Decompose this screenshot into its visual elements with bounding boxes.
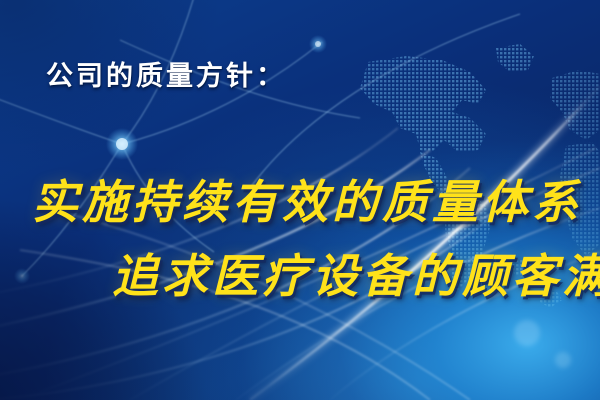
slogan-line-1: 实施持续有效的质量体系	[32, 166, 582, 232]
page-title: 公司的质量方针：	[46, 54, 286, 93]
slogan-line-2: 追求医疗设备的顾客满意	[112, 240, 600, 306]
quality-policy-banner: 公司的质量方针： 实施持续有效的质量体系 追求医疗设备的顾客满意	[0, 0, 600, 400]
